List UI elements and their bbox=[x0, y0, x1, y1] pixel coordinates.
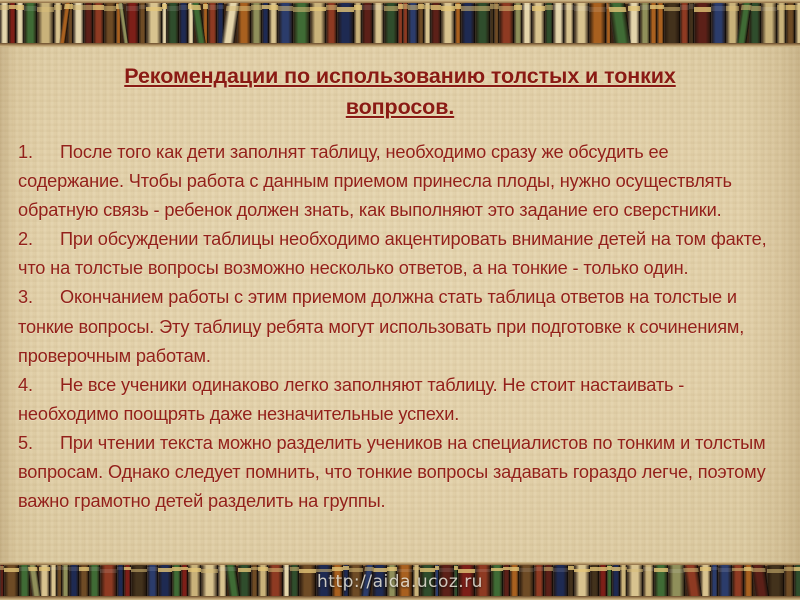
book-spine bbox=[777, 3, 786, 44]
shelf-wood-trim-bottom bbox=[0, 596, 800, 600]
page-title-line-2: вопросов. bbox=[346, 95, 454, 119]
book-spine bbox=[612, 565, 620, 597]
book-spine bbox=[786, 3, 795, 44]
book-spine bbox=[269, 3, 278, 44]
book-spine bbox=[761, 3, 777, 44]
book-spine bbox=[767, 565, 784, 597]
book-spine bbox=[337, 3, 354, 44]
list-item-text: Не все ученики одинаково легко заполняют… bbox=[18, 375, 684, 424]
book-spine bbox=[439, 565, 454, 597]
book-spine bbox=[491, 565, 503, 597]
book-spine bbox=[514, 3, 522, 44]
book-spine bbox=[9, 3, 16, 44]
book-spine bbox=[574, 3, 589, 44]
book-spine bbox=[354, 3, 362, 44]
book-spine bbox=[553, 3, 564, 44]
list-item-number: 4. bbox=[18, 371, 60, 400]
book-spine bbox=[181, 565, 188, 597]
book-spine bbox=[293, 3, 310, 44]
book-spine bbox=[643, 565, 654, 597]
list-item-number: 2. bbox=[18, 225, 60, 254]
page-title-line-1: Рекомендации по использованию толстых и … bbox=[124, 64, 676, 88]
list-item: 4.Не все ученики одинаково легко заполня… bbox=[18, 371, 774, 429]
book-spine bbox=[589, 3, 606, 44]
book-spine bbox=[534, 565, 544, 597]
book-spine bbox=[117, 565, 124, 597]
book-spine bbox=[503, 565, 510, 597]
book-spine bbox=[50, 565, 57, 597]
book-spine bbox=[251, 565, 258, 597]
book-spine bbox=[268, 565, 283, 597]
book-spine bbox=[458, 565, 475, 597]
book-spine bbox=[718, 565, 732, 597]
book-spine bbox=[387, 565, 397, 597]
list-item-number: 5. bbox=[18, 429, 60, 458]
book-spine bbox=[397, 565, 413, 597]
book-spine bbox=[16, 3, 24, 44]
book-spine bbox=[104, 3, 116, 44]
book-spine bbox=[620, 565, 627, 597]
book-spine bbox=[278, 3, 293, 44]
list-item: 1.После того как дети заполнят таблицу, … bbox=[18, 138, 774, 225]
book-spine bbox=[208, 3, 217, 44]
book-spine bbox=[657, 3, 664, 44]
book-spine bbox=[413, 565, 420, 597]
book-spine bbox=[326, 3, 337, 44]
book-spine bbox=[283, 565, 290, 597]
list-item: 5.При чтении текста можно разделить учен… bbox=[18, 429, 774, 516]
book-spine bbox=[475, 3, 490, 44]
list-item-number: 1. bbox=[18, 138, 60, 167]
book-spine bbox=[532, 3, 545, 44]
book-spine bbox=[147, 565, 158, 597]
book-spine bbox=[420, 565, 435, 597]
book-spine bbox=[650, 3, 657, 44]
list-item-text: При чтении текста можно разделить ученик… bbox=[18, 433, 766, 511]
book-spine bbox=[24, 3, 37, 44]
slide-content: Рекомендации по использованию толстых и … bbox=[0, 47, 800, 516]
book-spine bbox=[553, 565, 568, 597]
book-spine bbox=[510, 565, 519, 597]
bookshelf-border-bottom bbox=[0, 562, 800, 600]
list-item-number: 3. bbox=[18, 283, 60, 312]
book-spine bbox=[784, 565, 794, 597]
book-spine bbox=[69, 565, 79, 597]
book-spine bbox=[158, 565, 172, 597]
book-spine bbox=[711, 565, 718, 597]
book-spine bbox=[475, 565, 491, 597]
book-spine bbox=[408, 3, 418, 44]
book-spine bbox=[431, 3, 441, 44]
book-spine bbox=[124, 565, 131, 597]
book-spine bbox=[131, 565, 147, 597]
book-spine bbox=[680, 3, 689, 44]
book-spine bbox=[89, 565, 100, 597]
list-item-text: Окончанием работы с этим приемом должна … bbox=[18, 287, 744, 365]
bookshelf-border-top bbox=[0, 0, 800, 47]
book-spine bbox=[84, 3, 93, 44]
book-spine bbox=[384, 3, 398, 44]
book-spine bbox=[627, 565, 643, 597]
list-item: 2.При обсуждении таблицы необходимо акце… bbox=[18, 225, 774, 283]
book-spine bbox=[545, 3, 553, 44]
page-title: Рекомендации по использованию толстых и … bbox=[0, 47, 800, 123]
list-item-text: После того как дети заполнят таблицу, не… bbox=[18, 142, 732, 220]
slide-canvas: Рекомендации по использованию толстых и … bbox=[0, 0, 800, 600]
book-spine bbox=[499, 3, 514, 44]
book-spine bbox=[167, 3, 179, 44]
book-spine bbox=[564, 3, 574, 44]
book-spine bbox=[372, 565, 387, 597]
book-spine bbox=[237, 3, 251, 44]
book-spine bbox=[332, 565, 343, 597]
book-spine bbox=[299, 565, 316, 597]
book-spine bbox=[362, 3, 373, 44]
book-spine bbox=[179, 3, 188, 44]
book-spine bbox=[258, 565, 268, 597]
book-spine bbox=[664, 3, 680, 44]
book-spine bbox=[316, 565, 332, 597]
book-spine bbox=[441, 3, 455, 44]
book-spine bbox=[262, 3, 269, 44]
book-spine bbox=[139, 3, 146, 44]
book-spine bbox=[795, 3, 800, 44]
list-item: 3.Окончанием работы с этим приемом должн… bbox=[18, 283, 774, 370]
book-spine bbox=[373, 3, 384, 44]
book-spine bbox=[238, 565, 251, 597]
book-spine bbox=[732, 565, 744, 597]
book-spine bbox=[100, 565, 117, 597]
book-spine bbox=[172, 565, 181, 597]
book-spine bbox=[0, 3, 9, 44]
book-spine bbox=[79, 565, 89, 597]
book-spine bbox=[188, 565, 201, 597]
book-spine bbox=[73, 3, 84, 44]
book-spine bbox=[519, 565, 534, 597]
book-spine bbox=[461, 3, 475, 44]
book-spine bbox=[590, 565, 599, 597]
book-spines-top bbox=[0, 3, 800, 44]
book-spine bbox=[694, 3, 711, 44]
book-spine bbox=[574, 565, 590, 597]
book-spine bbox=[522, 3, 532, 44]
book-spine bbox=[544, 565, 553, 597]
book-spine bbox=[62, 565, 69, 597]
book-spine bbox=[310, 3, 326, 44]
book-spine bbox=[37, 3, 54, 44]
book-spine bbox=[711, 3, 726, 44]
book-spine bbox=[424, 3, 431, 44]
list-item-text: При обсуждении таблицы необходимо акцент… bbox=[18, 229, 767, 278]
book-spine bbox=[654, 565, 668, 597]
book-spine bbox=[290, 565, 299, 597]
book-spine bbox=[794, 565, 800, 597]
book-spine bbox=[599, 565, 607, 597]
book-spines-bottom bbox=[0, 565, 800, 597]
book-spine bbox=[251, 3, 262, 44]
book-spine bbox=[93, 3, 104, 44]
book-spine bbox=[201, 565, 218, 597]
book-spine bbox=[4, 565, 19, 597]
book-spine bbox=[640, 3, 650, 44]
recommendations-list: 1.После того как дети заполнят таблицу, … bbox=[0, 123, 800, 516]
book-spine bbox=[146, 3, 162, 44]
